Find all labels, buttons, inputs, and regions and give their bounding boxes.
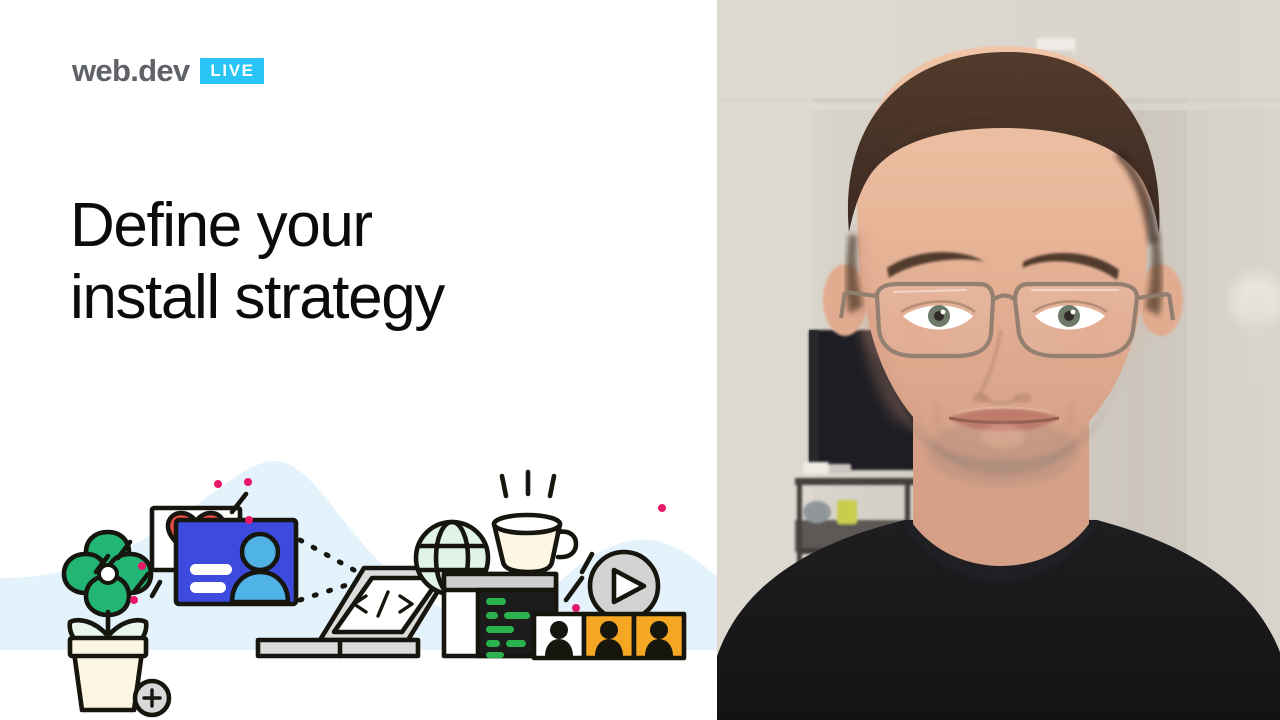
live-badge: LIVE: [200, 58, 263, 84]
coffee-cup-doodle: [494, 472, 576, 572]
webdev-live-logo: web.dev LIVE: [72, 55, 264, 86]
webcam-video-feed: [717, 0, 1280, 720]
video-person-card-doodle: [176, 520, 296, 604]
webdev-wordmark: web.dev: [72, 55, 189, 86]
slide-illustration: .ink { fill:none; stroke:#16160f; stroke…: [0, 460, 717, 720]
slide-title: Define your install strategy: [70, 190, 630, 334]
people-tiles-doodle: [534, 614, 684, 658]
slide-title-line-2: install strategy: [70, 262, 630, 334]
slide-title-line-1: Define your: [70, 190, 630, 262]
slide-with-webcam-composite: web.dev LIVE Define your install strateg…: [0, 0, 1280, 720]
presentation-slide: web.dev LIVE Define your install strateg…: [0, 0, 717, 720]
play-button-doodle: [590, 552, 658, 620]
